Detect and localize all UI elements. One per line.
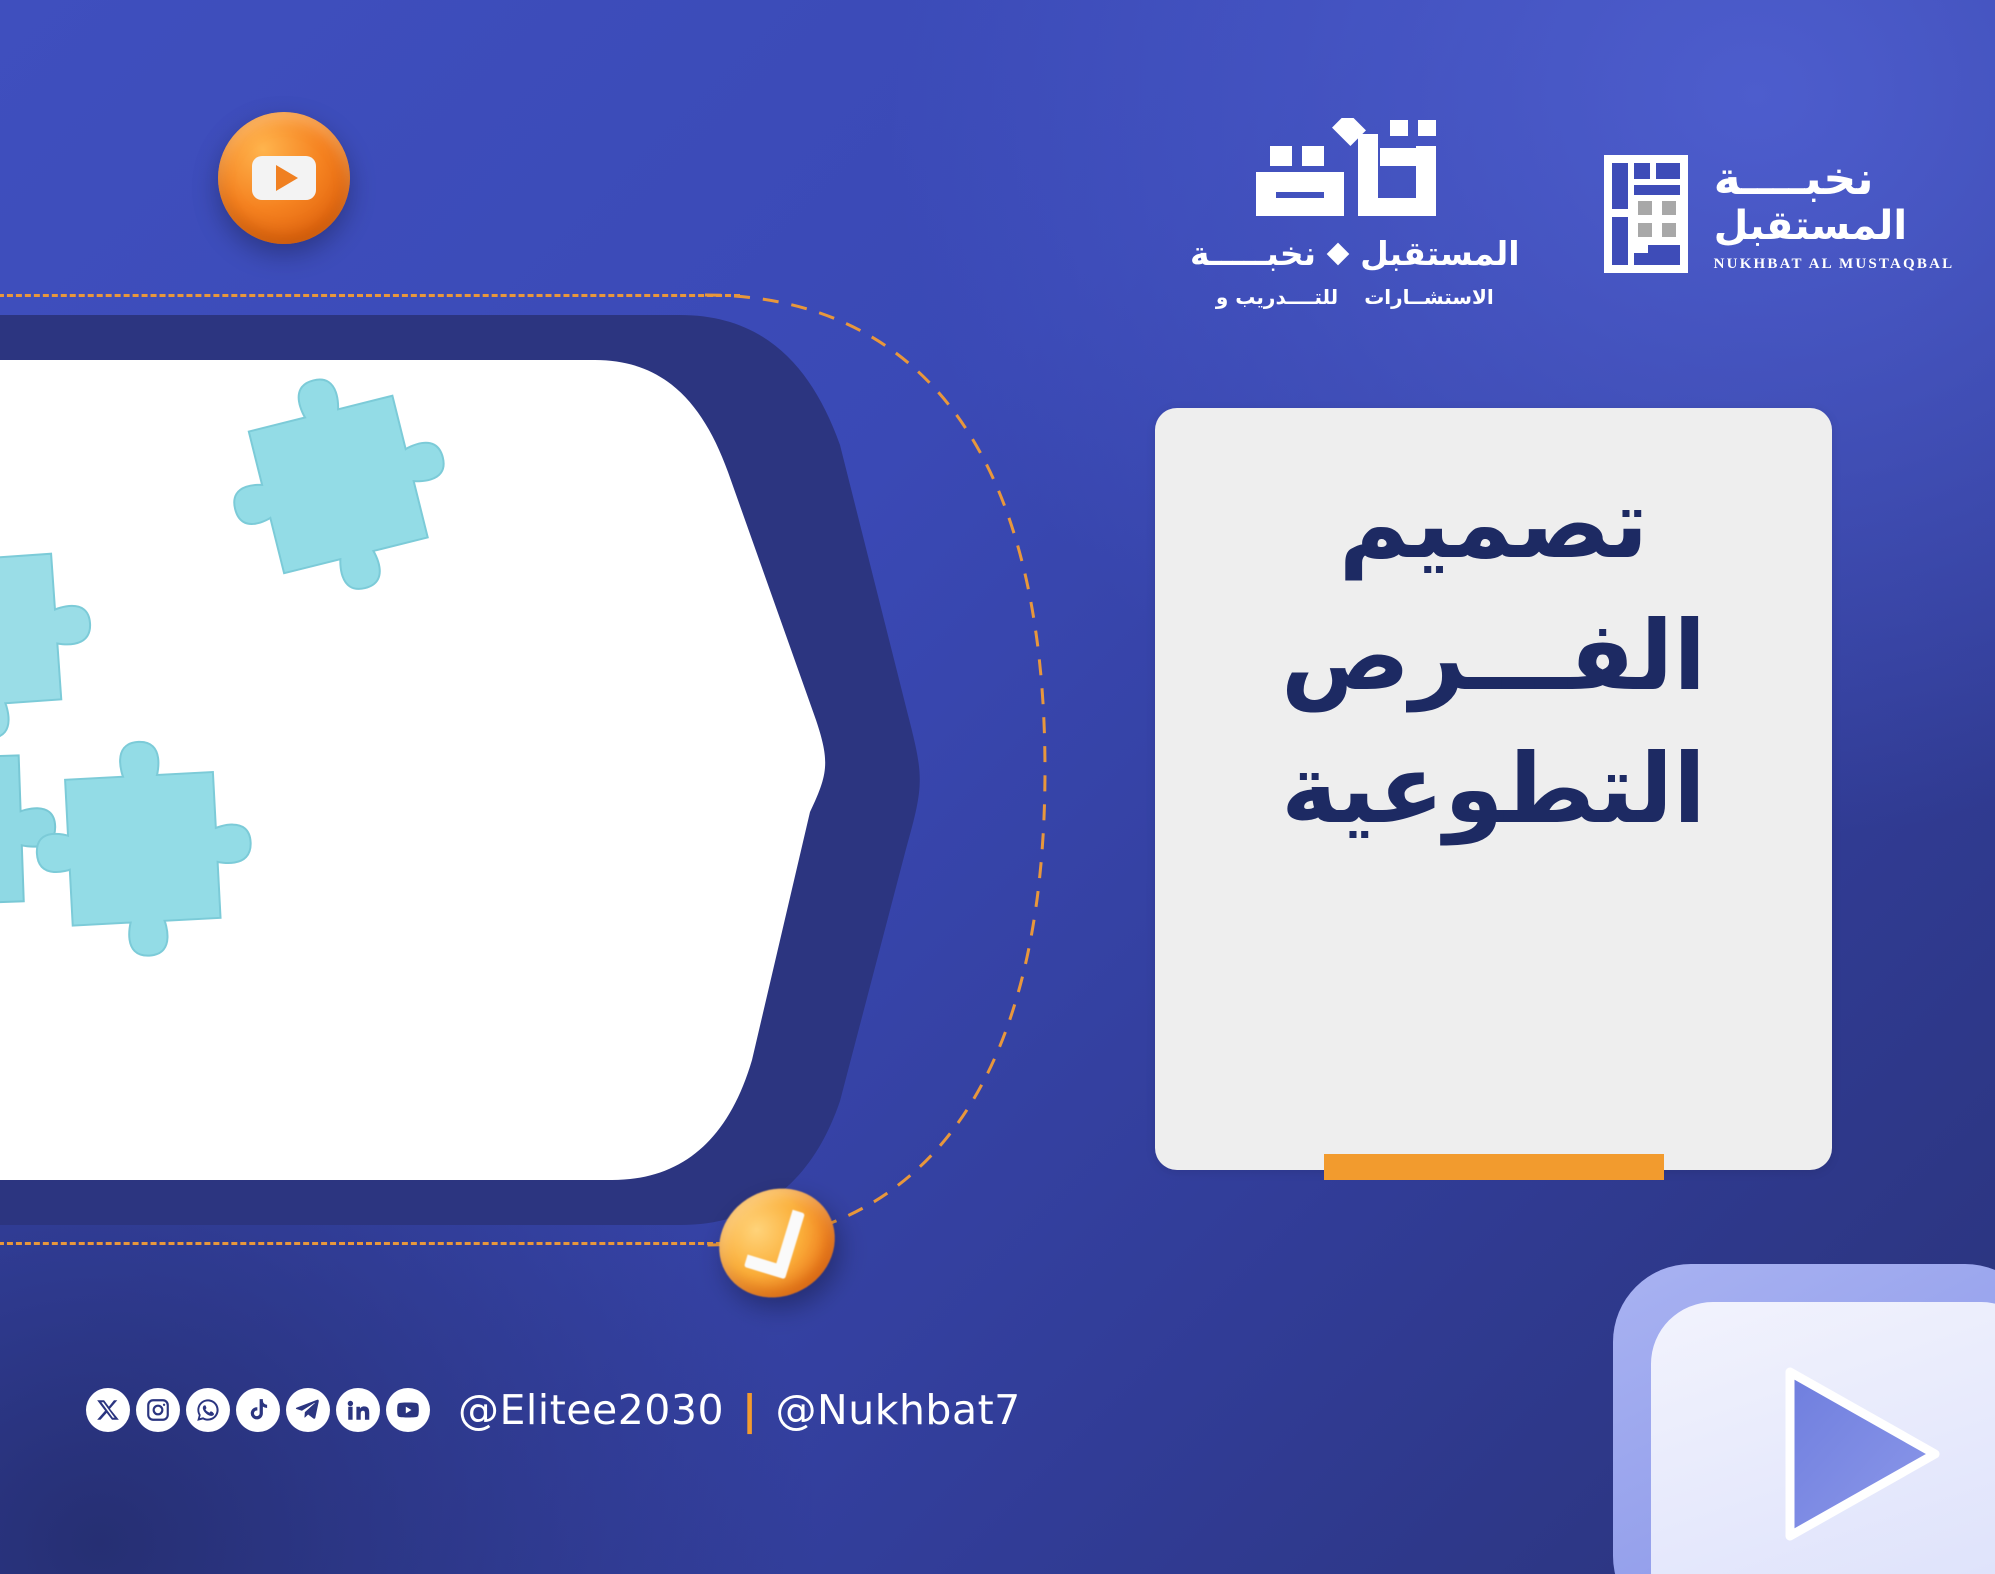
- dashed-border-bottom: [0, 1242, 740, 1245]
- play-button-3d-icon: [1585, 1254, 1995, 1574]
- dashed-border-top: [0, 294, 740, 297]
- instagram-icon[interactable]: [136, 1388, 180, 1432]
- logo-right-line1b: المستقبل: [1360, 234, 1520, 273]
- logo-right-line2: للتــــدريب و: [1216, 285, 1338, 309]
- logo-nukhbat-training: المستقبل نخبـــــة الاستشــارات للتــــد…: [1190, 118, 1520, 309]
- logo-left-latin: NUKHBAT AL MUSTAQBAL: [1714, 256, 1955, 273]
- handle-secondary[interactable]: @Nukhbat7: [776, 1386, 1021, 1434]
- youtube-icon[interactable]: [386, 1388, 430, 1432]
- logo-nukhbat-al-mustaqbal: نخبــــة المستقبل NUKHBAT AL MUSTAQBAL: [1604, 155, 1955, 273]
- page-title: تصميم الفـــرص التطوعية: [1155, 458, 1832, 855]
- logo-group: نخبــــة المستقبل NUKHBAT AL MUSTAQBAL: [1190, 118, 1954, 309]
- title-accent-bar: [1324, 1154, 1664, 1180]
- title-card: تصميم الفـــرص التطوعية: [1155, 408, 1832, 1170]
- diamond-icon: [1327, 242, 1350, 265]
- logo-right-line1: نخبـــــة: [1190, 234, 1316, 273]
- handle-separator: |: [742, 1386, 757, 1434]
- social-handles: @Elitee2030 | @Nukhbat7: [458, 1386, 1021, 1434]
- tiktok-icon[interactable]: [236, 1388, 280, 1432]
- logo-left-line1: نخبــــة: [1714, 155, 1874, 201]
- title-line-2: الفـــرص: [1199, 590, 1788, 722]
- play-badge-icon: [218, 112, 350, 244]
- poster-canvas: نخبــــة المستقبل NUKHBAT AL MUSTAQBAL: [0, 0, 1995, 1574]
- telegram-icon[interactable]: [286, 1388, 330, 1432]
- title-line-1: تصميم: [1199, 458, 1788, 590]
- photo-card: [0, 360, 830, 1180]
- logo-right-line2b: الاستشــارات: [1364, 285, 1494, 309]
- kufic-monogram-icon: [1604, 155, 1688, 273]
- linkedin-icon[interactable]: [336, 1388, 380, 1432]
- whatsapp-icon[interactable]: [186, 1388, 230, 1432]
- social-bar: @Elitee2030 | @Nukhbat7: [86, 1386, 1021, 1434]
- handle-primary[interactable]: @Elitee2030: [458, 1386, 724, 1434]
- logo-left-line2: المستقبل: [1714, 203, 1907, 249]
- kufic-monogram-icon: [1250, 118, 1460, 226]
- x-icon[interactable]: [86, 1388, 130, 1432]
- title-line-3: التطوعية: [1199, 723, 1788, 855]
